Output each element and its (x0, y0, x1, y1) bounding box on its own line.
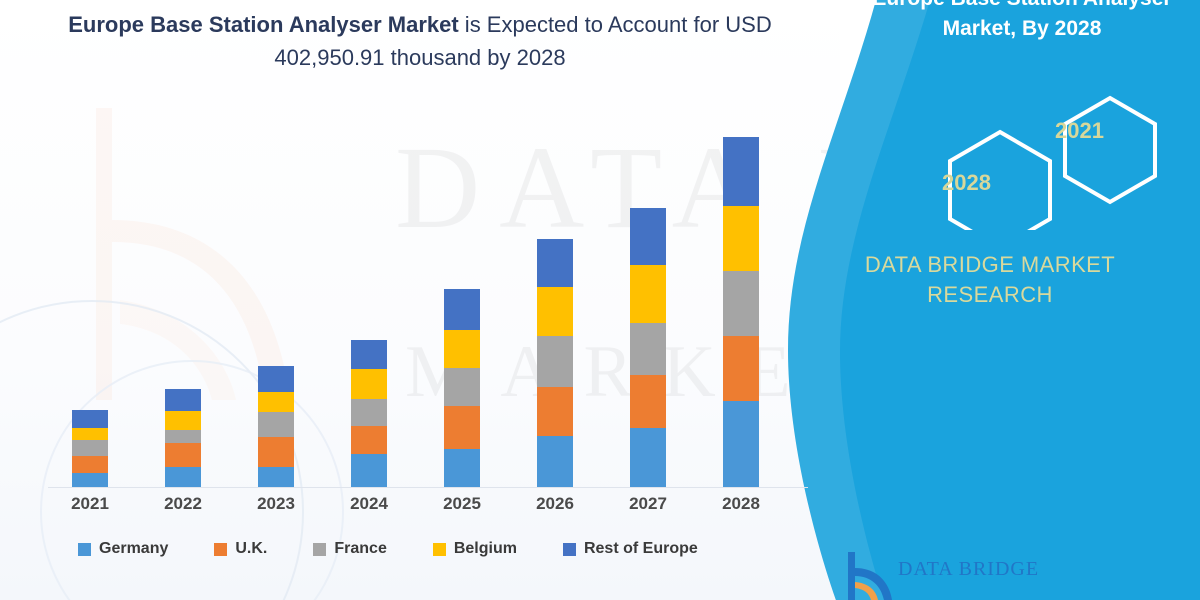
bar-segment-belgium (723, 206, 759, 271)
bar-segment-rest-of-europe (630, 208, 666, 265)
bar-2021 (72, 410, 108, 487)
market-report-infographic: DATA BRIDGE MARKET RESEARCH Europe Base … (0, 0, 1200, 600)
hexagon-group: 2021 2028 (870, 90, 1190, 230)
bar-segment-france (723, 271, 759, 336)
bar-segment-u-k (258, 437, 294, 467)
x-axis-line (48, 487, 808, 488)
legend-label: Rest of Europe (584, 540, 698, 558)
bar-segment-germany (630, 428, 666, 487)
bar-segment-germany (723, 401, 759, 487)
bar-segment-u-k (723, 336, 759, 401)
bar-segment-germany (165, 467, 201, 487)
bar-segment-rest-of-europe (258, 366, 294, 392)
bar-2028 (723, 137, 759, 487)
stacked-bar-chart: 20212022202320242025202620272028 (0, 0, 840, 600)
panel-title: Europe Base Station Analyser Market, By … (860, 0, 1184, 44)
bar-segment-u-k (165, 443, 201, 467)
bar-segment-france (165, 430, 201, 443)
legend-label: France (334, 540, 386, 558)
x-axis-tick-2027: 2027 (614, 494, 682, 514)
x-axis-tick-2025: 2025 (428, 494, 496, 514)
right-brand-panel: Europe Base Station Analyser Market, By … (780, 0, 1200, 600)
brand-line-2: RESEARCH (780, 280, 1200, 310)
bar-segment-rest-of-europe (537, 239, 573, 287)
x-axis-tick-2026: 2026 (521, 494, 589, 514)
legend-label: Belgium (454, 540, 517, 558)
bar-segment-france (537, 336, 573, 387)
bar-segment-u-k (630, 375, 666, 428)
bar-segment-rest-of-europe (351, 340, 387, 369)
legend-swatch-icon (214, 543, 227, 556)
bar-segment-u-k (351, 426, 387, 454)
bar-segment-france (351, 399, 387, 426)
legend-swatch-icon (78, 543, 91, 556)
bar-segment-belgium (444, 330, 480, 368)
legend-item-france[interactable]: France (313, 540, 386, 558)
legend-item-u-k[interactable]: U.K. (214, 540, 267, 558)
legend-label: U.K. (235, 540, 267, 558)
bar-segment-belgium (258, 392, 294, 412)
bridge-logo-icon (838, 548, 898, 600)
bar-segment-rest-of-europe (444, 289, 480, 330)
x-axis-tick-2023: 2023 (242, 494, 310, 514)
bar-segment-belgium (72, 428, 108, 440)
legend-item-belgium[interactable]: Belgium (433, 540, 517, 558)
panel-title-line-2: Market, By 2028 (860, 14, 1184, 44)
x-axis-tick-2021: 2021 (56, 494, 124, 514)
bar-segment-france (72, 440, 108, 456)
bar-2024 (351, 340, 387, 487)
bar-segment-rest-of-europe (165, 389, 201, 411)
bar-segment-germany (72, 473, 108, 487)
bar-2026 (537, 239, 573, 487)
bar-segment-france (444, 368, 480, 406)
bar-segment-belgium (351, 369, 387, 399)
legend-swatch-icon (433, 543, 446, 556)
bar-segment-rest-of-europe (72, 410, 108, 428)
bar-segment-germany (537, 436, 573, 487)
legend-swatch-icon (313, 543, 326, 556)
x-axis-tick-2022: 2022 (149, 494, 217, 514)
legend-item-rest-of-europe[interactable]: Rest of Europe (563, 540, 698, 558)
hexagon-2021-label: 2021 (1055, 118, 1104, 144)
x-axis-tick-2028: 2028 (707, 494, 775, 514)
hexagon-2028-label: 2028 (942, 170, 991, 196)
panel-title-line-1: Europe Base Station Analyser (860, 0, 1184, 14)
bar-segment-france (630, 323, 666, 375)
bar-segment-germany (444, 449, 480, 487)
bar-2025 (444, 289, 480, 487)
legend-swatch-icon (563, 543, 576, 556)
bar-segment-u-k (444, 406, 480, 449)
bar-segment-germany (258, 467, 294, 487)
brand-name: DATA BRIDGE MARKET RESEARCH (780, 250, 1200, 310)
bar-segment-germany (351, 454, 387, 487)
bar-segment-belgium (630, 265, 666, 323)
hexagon-icons (870, 90, 1190, 230)
legend-label: Germany (99, 540, 168, 558)
chart-legend: GermanyU.K.FranceBelgiumRest of Europe (78, 540, 698, 558)
brand-line-1: DATA BRIDGE MARKET (780, 250, 1200, 280)
bar-segment-france (258, 412, 294, 437)
bar-segment-u-k (537, 387, 573, 436)
bar-2022 (165, 389, 201, 487)
corner-logo: DATA BRIDGE (838, 548, 1078, 600)
bar-segment-belgium (537, 287, 573, 336)
bar-segment-u-k (72, 456, 108, 473)
hexagon-2021-icon (1065, 98, 1155, 202)
legend-item-germany[interactable]: Germany (78, 540, 168, 558)
bar-2027 (630, 208, 666, 487)
x-axis-tick-2024: 2024 (335, 494, 403, 514)
bar-segment-rest-of-europe (723, 137, 759, 206)
bar-segment-belgium (165, 411, 201, 430)
bar-2023 (258, 366, 294, 487)
corner-logo-text: DATA BRIDGE (898, 558, 1039, 581)
